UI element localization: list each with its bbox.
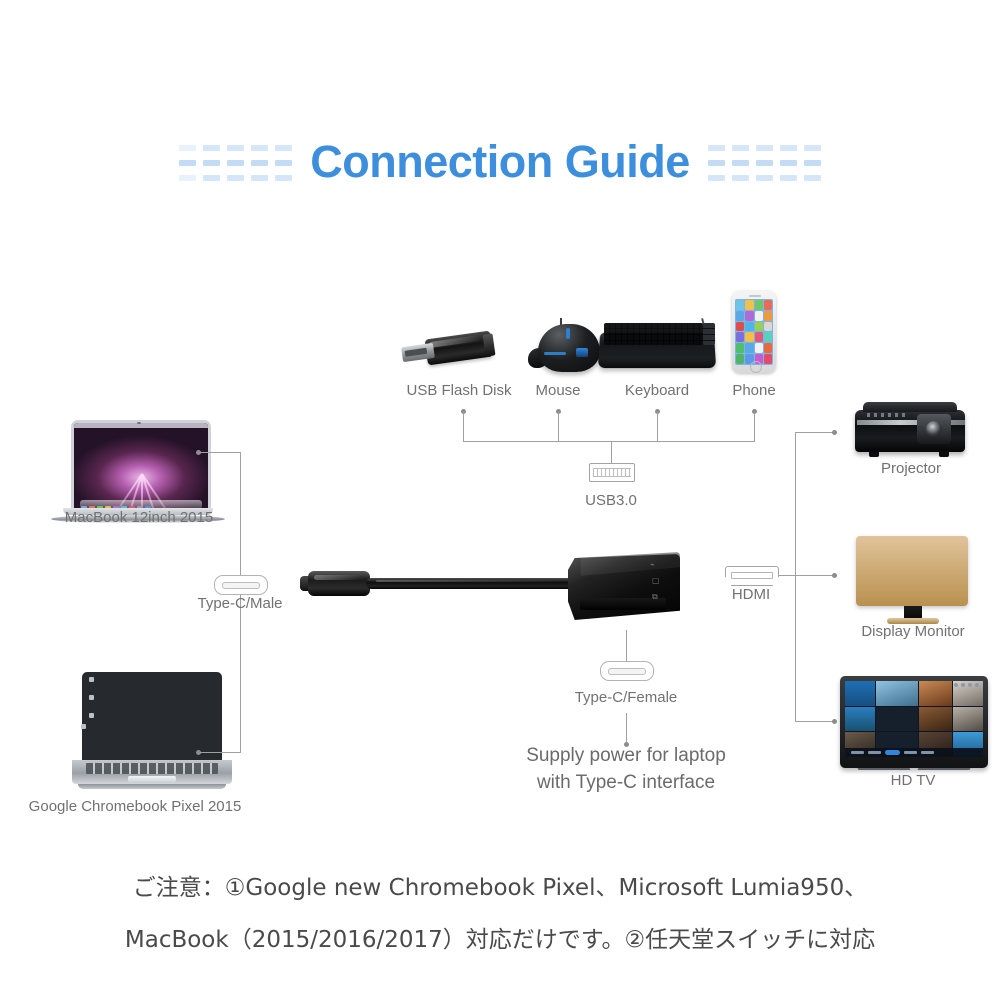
page-title: Connection Guide [310, 139, 690, 184]
keyboard-icon [599, 318, 719, 374]
usb-port-icon [589, 463, 635, 482]
projector-icon [855, 402, 967, 460]
display-monitor-icon [856, 536, 970, 626]
footer-line-1: ご注意：①Google new Chromebook Pixel、Microso… [0, 862, 1000, 914]
page-title-block: Connection Guide [0, 126, 1000, 196]
macbook-label: MacBook 12inch 2015 [65, 509, 213, 526]
power-note-line1: Supply power for laptop [526, 745, 726, 767]
hdmi-port-icon [725, 566, 779, 586]
type-c-connector-icon [214, 575, 268, 595]
connection-diagram: Connection Guide USB Flash Disk Mouse Ke… [0, 0, 1000, 1000]
usb-stem-line [611, 441, 612, 463]
display-monitor-label: Display Monitor [861, 623, 964, 640]
power-stem-line-top [626, 630, 627, 664]
hdtv-branch-dot [832, 719, 837, 724]
projector-label: Projector [881, 460, 941, 477]
usb-branch-line-3 [657, 412, 658, 442]
usb-branch-line-1 [463, 412, 464, 442]
power-note-line2: with Type-C interface [537, 772, 715, 794]
footer-line-2: MacBook（2015/2016/2017）対応だけです。②任天堂スイッチに対… [0, 914, 1000, 966]
monitor-branch-dot [832, 573, 837, 578]
hd-tv-icon [840, 676, 990, 778]
usb-c-hub-adapter-icon: ⌁ ▢ ⧉ [300, 558, 690, 630]
usb30-label: USB3.0 [585, 492, 637, 509]
hdmi-to-trunk-line [779, 575, 835, 576]
projector-branch-dot [832, 430, 837, 435]
footer-note: ご注意：①Google new Chromebook Pixel、Microso… [0, 862, 1000, 966]
projector-branch-line [795, 432, 835, 433]
usb-bus-line [463, 441, 755, 442]
type-c-male-label: Type-C/Male [197, 595, 282, 612]
type-c-female-label: Type-C/Female [575, 689, 678, 706]
hd-tv-label: HD TV [891, 772, 936, 789]
type-c-female-connector-icon [600, 661, 654, 681]
phone-icon [732, 291, 778, 375]
usb-flash-disk-icon [400, 325, 520, 375]
title-decor-right [708, 141, 821, 181]
chromebook-icon [72, 672, 234, 790]
phone-label: Phone [732, 382, 775, 399]
chromebook-branch-line [200, 752, 241, 753]
mouse-icon [520, 318, 610, 376]
mouse-label: Mouse [535, 382, 580, 399]
usb-branch-line-2 [558, 412, 559, 442]
macbook-branch-line [200, 452, 241, 453]
usb-branch-line-4 [754, 412, 755, 442]
chromebook-label: Google Chromebook Pixel 2015 [29, 798, 242, 815]
keyboard-label: Keyboard [625, 382, 689, 399]
display-trunk-line [795, 432, 796, 721]
usb-flash-disk-label: USB Flash Disk [406, 382, 511, 399]
power-stem-line-bottom [626, 713, 627, 745]
title-decor-left [179, 141, 292, 181]
hdtv-branch-line [795, 721, 835, 722]
hdmi-label: HDMI [732, 586, 770, 603]
